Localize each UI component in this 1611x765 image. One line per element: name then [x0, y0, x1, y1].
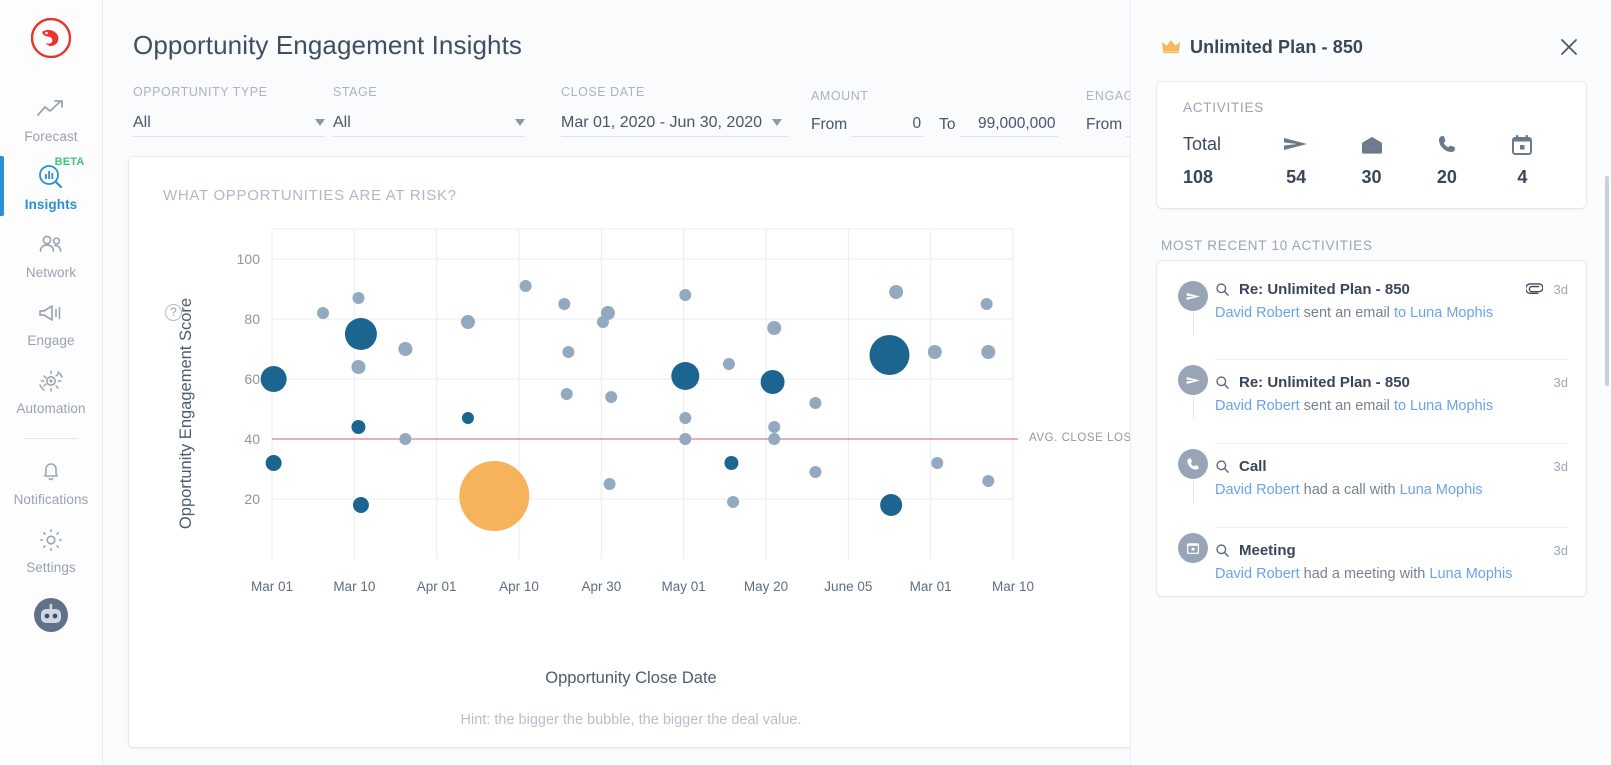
activity-target: Luna Mophis [1400, 482, 1483, 498]
stat-total: Total 108 [1183, 131, 1258, 188]
beta-badge: BETA [55, 156, 85, 168]
x-axis-tick: Apr 30 [581, 579, 621, 594]
activities-stats-grid: Total 108 54 [1183, 131, 1560, 188]
phone-icon [1437, 131, 1457, 157]
amount-from-label: From [811, 116, 847, 137]
falcon-logo[interactable] [31, 18, 71, 58]
activity-body: Call3dDavid Robert had a call with Luna … [1215, 443, 1568, 503]
chevron-down-icon [772, 119, 782, 126]
stat-emails-sent: 54 [1258, 131, 1333, 188]
activity-actor: David Robert [1215, 482, 1300, 498]
activity-bullet-col [1171, 533, 1215, 582]
timeline-connector [1193, 397, 1194, 419]
score-from-label: From [1086, 116, 1122, 137]
activity-row[interactable]: Call3dDavid Robert had a call with Luna … [1157, 433, 1586, 517]
filter-label: OPPORTUNITY TYPE [133, 85, 333, 99]
amount-to-input[interactable] [960, 115, 1058, 137]
stat-value: 20 [1437, 167, 1457, 188]
filter-amount: AMOUNT From To [811, 89, 1086, 137]
activity-target: Luna Mophis [1429, 566, 1512, 582]
activity-body: Re: Unlimited Plan - 8503dDavid Robert s… [1215, 281, 1568, 335]
x-axis-tick: Mar 10 [333, 579, 375, 594]
activity-action: had a call with [1300, 482, 1400, 498]
activity-actor: David Robert [1215, 566, 1300, 582]
filter-label: AMOUNT [811, 89, 1086, 103]
sidebar-item-network[interactable]: Network [0, 220, 103, 288]
opportunity-type-dropdown[interactable]: All [133, 111, 325, 137]
activity-subject-row: Call3d [1215, 458, 1568, 475]
timeline-connector [1193, 481, 1194, 503]
activity-description: David Robert sent an email to Luna Mophi… [1215, 305, 1568, 321]
stat-label: Total [1183, 131, 1221, 157]
search-icon[interactable] [1215, 375, 1230, 390]
send-icon [1283, 131, 1309, 157]
x-axis-tick: June 05 [824, 579, 872, 594]
send-icon [1178, 281, 1208, 311]
x-axis-tick: Apr 01 [417, 579, 457, 594]
activity-description: David Robert sent an email to Luna Mophi… [1215, 398, 1568, 414]
activity-meta: 3d [1554, 375, 1568, 390]
megaphone-icon [36, 298, 66, 328]
app-root: Forecast BETA Insights [0, 0, 1611, 765]
crown-icon [1161, 38, 1181, 57]
sidebar-item-label: Engage [27, 333, 74, 348]
x-axis-tick: May 20 [744, 579, 788, 594]
filter-opportunity-type: OPPORTUNITY TYPE All [133, 85, 333, 137]
chart-card: WHAT OPPORTUNITIES ARE AT RISK? Opportun… [129, 157, 1133, 747]
stat-value: 30 [1362, 167, 1382, 188]
sidebar-item-label: Automation [16, 401, 85, 416]
stage-dropdown[interactable]: All [333, 111, 525, 137]
sidebar-item-label: Settings [26, 560, 76, 575]
activity-meta: 3d [1554, 459, 1568, 474]
opportunity-type-value: All [133, 114, 151, 132]
activity-action: sent an email [1300, 398, 1394, 414]
chart-canvas [129, 204, 1133, 724]
close-icon[interactable] [1556, 34, 1582, 60]
stat-calls: 20 [1409, 131, 1484, 188]
chevron-down-icon [315, 119, 325, 126]
y-axis-tick: 80 [226, 311, 260, 327]
paperclip-icon[interactable] [1526, 283, 1543, 296]
chart-hint: Hint: the bigger the bubble, the bigger … [129, 712, 1133, 728]
sidebar-item-label: Network [26, 265, 76, 280]
y-axis-tick: 20 [226, 491, 260, 507]
activity-subject: Re: Unlimited Plan - 850 [1239, 374, 1410, 391]
gear-icon [36, 525, 66, 555]
stat-meetings: 4 [1485, 131, 1560, 188]
activity-target: to Luna Mophis [1394, 305, 1493, 321]
stat-emails-received: 30 [1334, 131, 1409, 188]
calendar-icon [1178, 533, 1208, 563]
bell-icon [36, 457, 66, 487]
panel-scrollbar[interactable] [1605, 176, 1609, 386]
sidebar-item-engage[interactable]: Engage [0, 288, 103, 356]
activity-subject: Re: Unlimited Plan - 850 [1239, 281, 1410, 298]
trend-up-icon [36, 94, 66, 124]
envelope-icon [1360, 131, 1384, 157]
activity-body: Meeting3dDavid Robert had a meeting with… [1215, 527, 1568, 582]
activity-target: to Luna Mophis [1394, 398, 1493, 414]
close-date-value: Mar 01, 2020 - Jun 30, 2020 [561, 114, 762, 132]
activity-row[interactable]: Re: Unlimited Plan - 8503dDavid Robert s… [1157, 349, 1586, 433]
sidebar-item-label: Notifications [14, 492, 89, 507]
y-axis-tick: 60 [226, 371, 260, 387]
sidebar-item-insights[interactable]: BETA Insights [0, 152, 103, 220]
activities-heading: ACTIVITIES [1183, 100, 1560, 115]
activity-row[interactable]: Meeting3dDavid Robert had a meeting with… [1157, 517, 1586, 596]
activity-time: 3d [1554, 459, 1568, 474]
filter-close-date: CLOSE DATE Mar 01, 2020 - Jun 30, 2020 [561, 85, 811, 137]
search-icon[interactable] [1215, 282, 1230, 297]
automation-gear-icon [36, 366, 66, 396]
sidebar-item-label: Forecast [24, 129, 77, 144]
sidebar-item-automation[interactable]: Automation [0, 356, 103, 424]
phone-icon [1178, 449, 1208, 479]
recent-activities-heading: MOST RECENT 10 ACTIVITIES [1161, 238, 1586, 253]
avg-close-lost-label: AVG. CLOSE LOST [1029, 432, 1139, 444]
send-icon [1178, 365, 1208, 395]
activity-actor: David Robert [1215, 398, 1300, 414]
sidebar-item-label: Insights [25, 197, 78, 212]
chevron-down-icon [515, 119, 525, 126]
search-icon[interactable] [1215, 459, 1230, 474]
activity-bullet-col [1171, 449, 1215, 503]
activity-action: sent an email [1300, 305, 1394, 321]
bubble-chart[interactable]: Opportunity Engagement Score ? Mar 01Mar… [129, 204, 1133, 724]
activity-row[interactable]: Re: Unlimited Plan - 8503dDavid Robert s… [1157, 265, 1586, 349]
stat-value: 4 [1517, 167, 1527, 188]
activity-time: 3d [1554, 375, 1568, 390]
search-icon[interactable] [1215, 543, 1230, 558]
activity-description: David Robert had a meeting with Luna Mop… [1215, 566, 1568, 582]
close-date-dropdown[interactable]: Mar 01, 2020 - Jun 30, 2020 [561, 111, 789, 137]
activity-actor: David Robert [1215, 305, 1300, 321]
x-axis-tick: Apr 10 [499, 579, 539, 594]
activity-subject-row: Meeting3d [1215, 542, 1568, 559]
sidebar-item-forecast[interactable]: Forecast [0, 84, 103, 152]
chart-question: WHAT OPPORTUNITIES ARE AT RISK? [129, 157, 1133, 204]
activity-meta: 3d [1526, 282, 1568, 297]
activity-time: 3d [1554, 543, 1568, 558]
activity-bullet-col [1171, 281, 1215, 335]
activity-subject-row: Re: Unlimited Plan - 8503d [1215, 281, 1568, 298]
timeline-connector [1193, 313, 1194, 335]
x-axis-tick: Mar 01 [910, 579, 952, 594]
activity-bullet-col [1171, 365, 1215, 419]
activity-subject-row: Re: Unlimited Plan - 8503d [1215, 374, 1568, 391]
activity-subject: Meeting [1239, 542, 1296, 559]
x-axis-tick: Mar 10 [992, 579, 1034, 594]
activity-body: Re: Unlimited Plan - 8503dDavid Robert s… [1215, 359, 1568, 419]
sidebar-item-notifications[interactable]: Notifications [0, 447, 103, 515]
stat-value: 108 [1183, 167, 1213, 188]
details-panel-title: Unlimited Plan - 850 [1190, 37, 1363, 58]
filter-label: CLOSE DATE [561, 85, 811, 99]
activity-action: had a meeting with [1300, 566, 1430, 582]
details-panel: Unlimited Plan - 850 ACTIVITIES Total 10… [1130, 0, 1611, 765]
stat-value: 54 [1286, 167, 1306, 188]
amount-to-label: To [939, 116, 955, 137]
activity-subject: Call [1239, 458, 1267, 475]
avatar[interactable] [33, 597, 69, 633]
x-axis-tick: May 01 [662, 579, 706, 594]
activities-summary-card: ACTIVITIES Total 108 54 [1157, 82, 1586, 208]
activity-description: David Robert had a call with Luna Mophis [1215, 482, 1568, 498]
calendar-icon [1511, 131, 1533, 157]
filter-label: STAGE [333, 85, 561, 99]
activity-list: Re: Unlimited Plan - 8503dDavid Robert s… [1157, 261, 1586, 596]
details-panel-header: Unlimited Plan - 850 [1157, 20, 1586, 60]
x-axis-tick: Mar 01 [251, 579, 293, 594]
sidebar-divider [24, 438, 78, 439]
chart-x-axis-label: Opportunity Close Date [129, 669, 1133, 688]
activity-time: 3d [1554, 282, 1568, 297]
filter-stage: STAGE All [333, 85, 561, 137]
amount-from-input[interactable] [851, 115, 923, 137]
y-axis-tick: 40 [226, 431, 260, 447]
main-content: Opportunity Engagement Insights OPPORTUN… [103, 0, 1611, 765]
sidebar: Forecast BETA Insights [0, 0, 103, 765]
stage-value: All [333, 114, 351, 132]
people-icon [36, 230, 66, 260]
activity-meta: 3d [1554, 543, 1568, 558]
y-axis-tick: 100 [226, 251, 260, 267]
sidebar-item-settings[interactable]: Settings [0, 515, 103, 583]
